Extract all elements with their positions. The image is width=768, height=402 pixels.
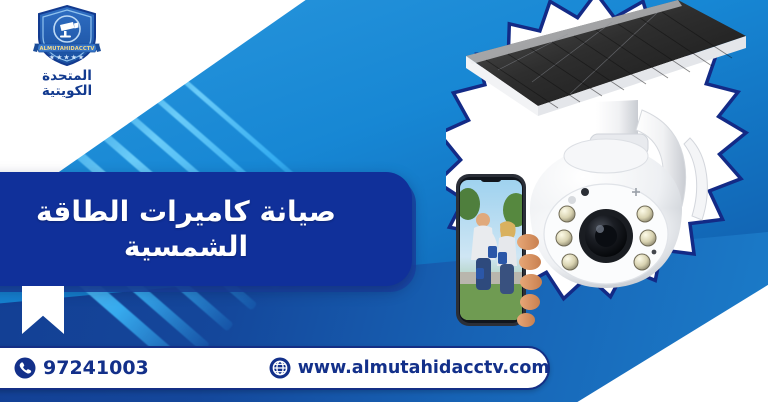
website-contact[interactable]: www.almutahidacctv.com [269, 357, 550, 379]
page-title: صيانة كاميرات الطاقة الشمسية [0, 194, 412, 265]
globe-icon [269, 357, 291, 379]
phone-number: 97241003 [43, 357, 149, 379]
headline-box: صيانة كاميرات الطاقة الشمسية [0, 172, 412, 286]
promo-banner: صيانة كاميرات الطاقة الشمسية [0, 0, 768, 402]
website-url: www.almutahidacctv.com [298, 358, 550, 378]
phone-screen [456, 180, 529, 320]
logo-arabic-name: المتحدة الكويتية [8, 69, 126, 99]
brand-logo[interactable]: ALMUTAHIDACCTV ★★★★★ المتحدة الكويتية [8, 4, 126, 108]
logo-arabic-line-1: المتحدة [8, 69, 126, 84]
shield-cctv-icon: ALMUTAHIDACCTV ★★★★★ [33, 4, 101, 68]
svg-text:★★★★★: ★★★★★ [49, 54, 85, 62]
phone-contact[interactable]: 97241003 [14, 357, 149, 379]
hand-holding-smartphone [452, 168, 548, 340]
svg-text:ALMUTAHIDACCTV: ALMUTAHIDACCTV [39, 46, 94, 52]
contact-bar: 97241003 www.almutahidacctv.com [0, 346, 550, 390]
phone-icon [14, 357, 36, 379]
logo-arabic-line-2: الكويتية [8, 84, 126, 99]
